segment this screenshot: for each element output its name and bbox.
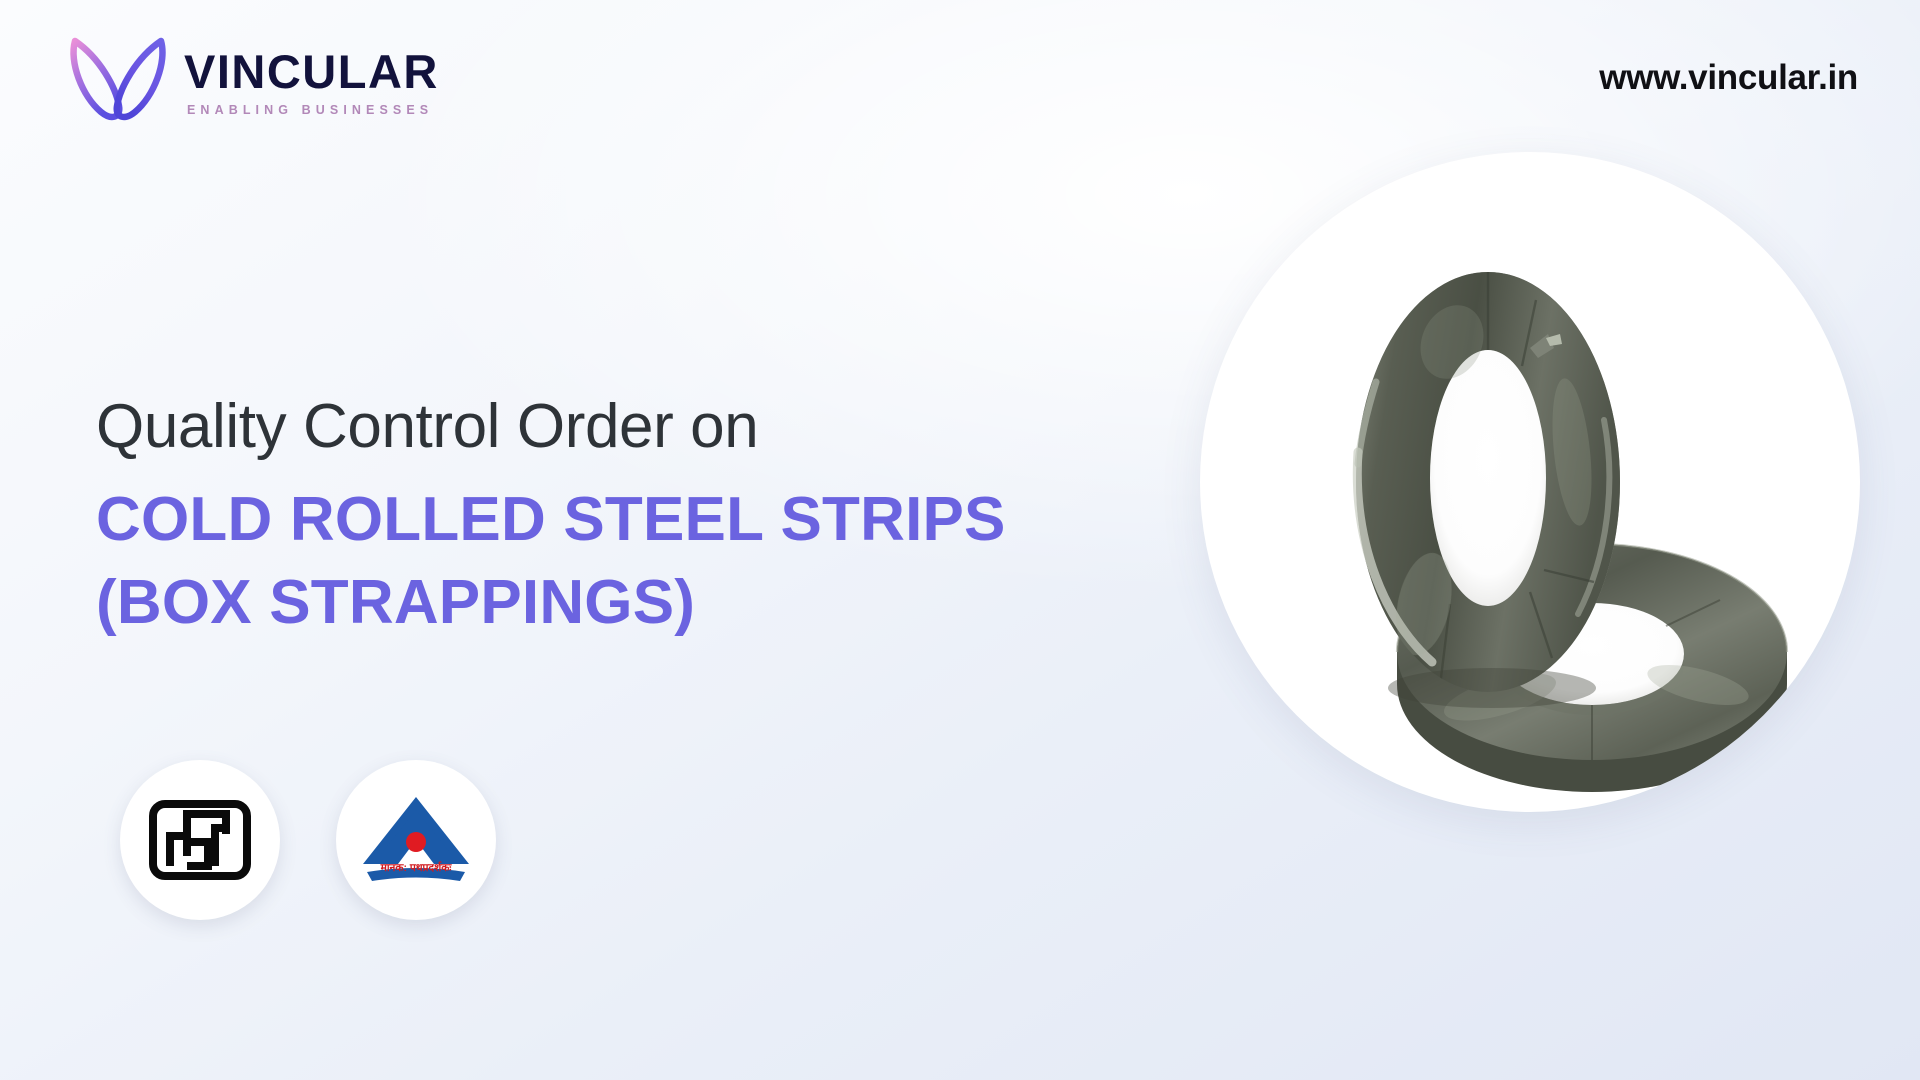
bis-motto-text: मानक: पथप्रदर्शकः [380,861,453,874]
promotional-banner: VINCULAR ENABLING BUSINESSES www.vincula… [0,0,1920,1080]
badge-isi-mark[interactable] [120,760,280,920]
logo-text-group: VINCULAR ENABLING BUSINESSES [184,40,439,117]
logo-wordmark: VINCULAR [184,48,439,95]
bis-logo-icon: मानक: पथप्रदर्शकः [356,780,476,900]
banner-header: VINCULAR ENABLING BUSINESSES www.vincula… [0,0,1920,160]
vincular-butterfly-logo-icon [66,32,170,124]
vincular-logo[interactable]: VINCULAR ENABLING BUSINESSES [66,32,439,124]
certification-badges: मानक: पथप्रदर्शकः [120,760,496,920]
isi-mark-icon [140,780,260,900]
steel-strapping-coils-photo [1200,152,1860,812]
logo-tagline: ENABLING BUSINESSES [184,104,439,117]
headline-line-2: COLD ROLLED STEEL STRIPS [96,481,1116,559]
product-image-circle [1200,152,1860,812]
headline-line-1: Quality Control Order on [96,392,1116,463]
headline-group: Quality Control Order on COLD ROLLED STE… [96,392,1116,642]
headline-line-3: (BOX STRAPPINGS) [96,564,1116,642]
badge-bis-logo[interactable]: मानक: पथप्रदर्शकः [336,760,496,920]
website-url[interactable]: www.vincular.in [1599,58,1858,98]
